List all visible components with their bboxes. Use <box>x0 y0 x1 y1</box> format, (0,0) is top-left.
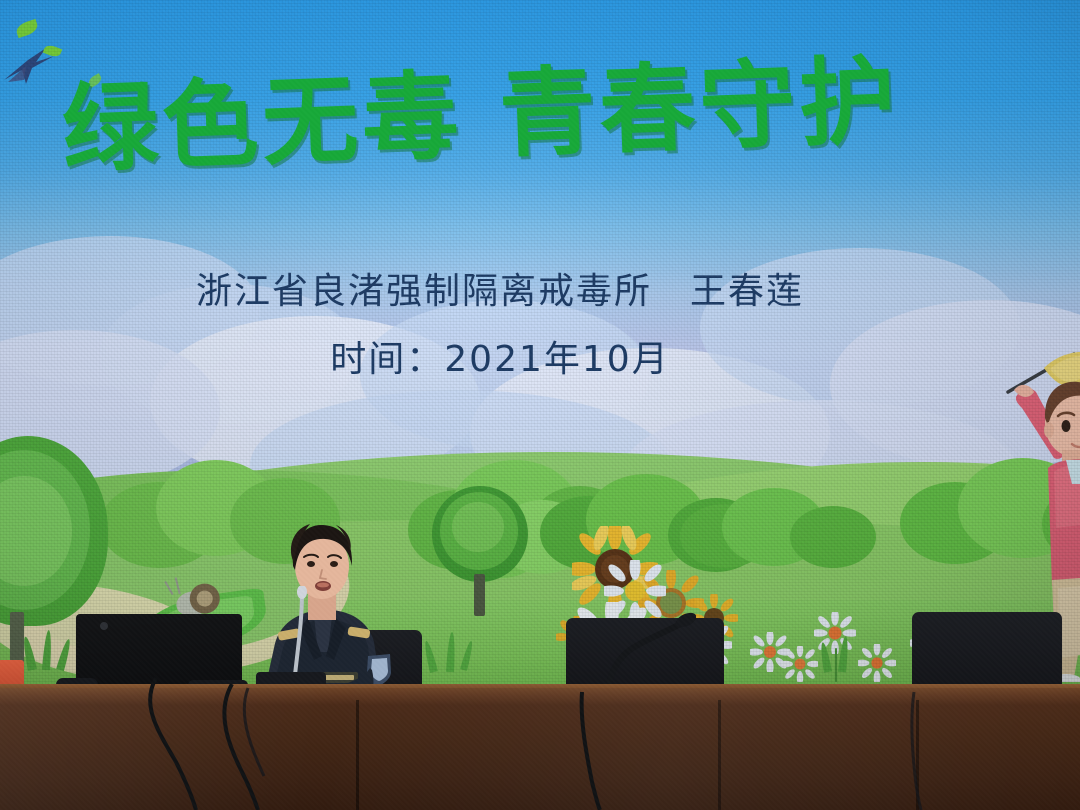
slide-organization: 浙江省良渚强制隔离戒毒所 王春莲 <box>0 262 1000 314</box>
floating-leaf <box>15 19 40 38</box>
cable-run <box>100 672 360 810</box>
cable-run <box>900 690 960 810</box>
tree-center <box>432 486 528 626</box>
daisy <box>782 646 818 682</box>
daisy <box>858 644 896 682</box>
photo-scene: 绿色无毒 青春守护 浙江省良渚强制隔离戒毒所 王春莲 时间：2021年10月 <box>0 0 1080 810</box>
slide-date: 时间：2021年10月 <box>0 330 1000 382</box>
laptop-logo <box>100 622 108 630</box>
cable-run <box>570 690 650 810</box>
led-screen-slide: 绿色无毒 青春守护 浙江省良渚强制隔离戒毒所 王春莲 时间：2021年10月 <box>0 0 1080 700</box>
slide-title: 绿色无毒 青春守护 <box>60 15 1080 191</box>
